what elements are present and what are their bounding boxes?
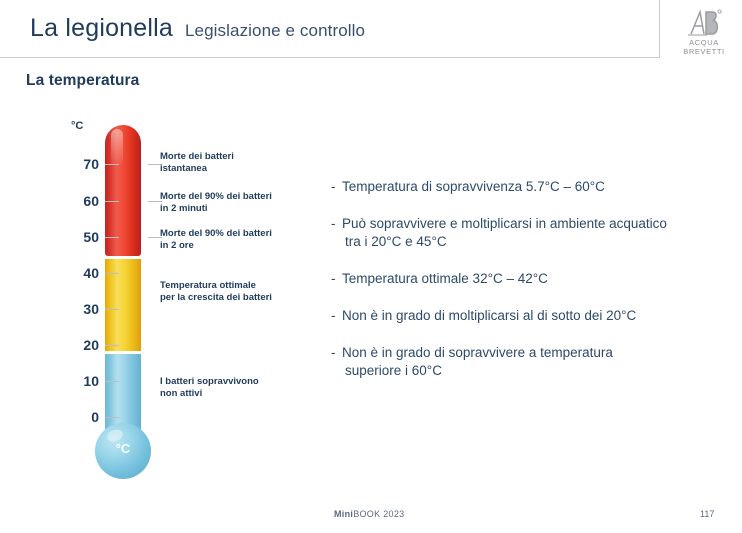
page-subtitle: Legislazione e controllo	[185, 21, 365, 41]
thermometer-annotation: Morte del 90% dei batteri in 2 ore	[160, 228, 310, 252]
page-title: La legionella	[30, 14, 173, 43]
thermometer-bulb: °C	[95, 423, 151, 479]
tick-mark-50	[105, 237, 119, 238]
annotation-line-1: I batteri sopravvivono	[160, 376, 310, 388]
list-item-line-2: tra i 20°C e 45°C	[342, 233, 731, 251]
annotation-line-1: Morte del 90% dei batteri	[160, 228, 310, 240]
bullet-marker: -	[331, 344, 336, 362]
thermometer-annotation: Morte del 90% dei batteri in 2 minuti	[160, 191, 310, 215]
page-header: La legionella Legislazione e controllo	[30, 14, 365, 43]
tick-mark-30	[105, 309, 119, 310]
bulb-unit-label: °C	[95, 441, 151, 456]
annotation-line-2: per la crescita dei batteri	[160, 292, 310, 304]
tick-label-40: 40	[65, 265, 99, 281]
bullet-marker: -	[331, 270, 336, 288]
footer-source: MiniBOOK 2023	[334, 509, 404, 519]
list-item-line-1: Temperatura ottimale 32°C – 42°C	[342, 271, 548, 286]
tick-label-50: 50	[65, 229, 99, 245]
list-item: - Non è in grado di sopravvivere a tempe…	[331, 344, 731, 380]
bullet-marker: -	[331, 307, 336, 325]
page-number: 117	[700, 509, 714, 519]
annotation-line-1: Morte dei batteri	[160, 151, 310, 163]
section-title: La temperatura	[26, 72, 139, 90]
facts-list: - Temperatura di sopravvivenza 5.7°C – 6…	[331, 178, 731, 399]
annotation-line-2: in 2 ore	[160, 240, 310, 252]
annotation-line-1: Morte del 90% dei batteri	[160, 191, 310, 203]
thermometer-tube	[105, 125, 141, 447]
tick-mark-0	[105, 417, 119, 418]
logo-text-brevetti: BREVETTI	[683, 47, 724, 56]
annotation-line-2: istantanea	[160, 163, 310, 175]
tick-label-10: 10	[65, 373, 99, 389]
footer-source-bold: Mini	[334, 509, 353, 519]
tick-label-30: 30	[65, 301, 99, 317]
list-item-line-1: Non è in grado di moltiplicarsi al di so…	[342, 308, 636, 323]
thermometer-annotation: Morte dei batteri istantanea	[160, 151, 310, 175]
tick-label-0: 0	[65, 409, 99, 425]
thermometer-annotation: Temperatura ottimale per la crescita dei…	[160, 280, 310, 304]
logo-text-acqua: ACQUA	[689, 38, 719, 47]
list-item-line-1: Temperatura di sopravvivenza 5.7°C – 60°…	[342, 179, 605, 194]
tick-label-70: 70	[65, 156, 99, 172]
axis-unit-label: °C	[71, 120, 83, 132]
list-item: - Temperatura ottimale 32°C – 42°C	[331, 270, 731, 288]
tick-mark-60	[105, 201, 119, 202]
list-item: - Temperatura di sopravvivenza 5.7°C – 6…	[331, 178, 731, 196]
tick-mark-20	[105, 345, 119, 346]
annotation-line-1: Temperatura ottimale	[160, 280, 310, 292]
tick-mark-40	[105, 273, 119, 274]
annotation-line-2: non attivi	[160, 388, 310, 400]
gloss-highlight	[111, 129, 123, 167]
acqua-brevetti-logo: ACQUA BREVETTI	[676, 8, 732, 60]
thermometer-chart: °C °C 70 60 50 40 30 20 10 0 Morte dei b…	[60, 118, 320, 478]
tick-mark-70	[105, 164, 119, 165]
tick-label-20: 20	[65, 337, 99, 353]
list-item-line-1: Può sopravvivere e moltiplicarsi in ambi…	[342, 216, 667, 231]
ab-monogram-icon	[685, 8, 723, 38]
list-item: - Può sopravvivere e moltiplicarsi in am…	[331, 215, 731, 251]
bullet-marker: -	[331, 215, 336, 233]
registered-mark-icon	[718, 10, 721, 13]
list-item: - Non è in grado di moltiplicarsi al di …	[331, 307, 731, 325]
bullet-marker: -	[331, 178, 336, 196]
thermometer-annotation: I batteri sopravvivono non attivi	[160, 376, 310, 400]
annotation-line-2: in 2 minuti	[160, 203, 310, 215]
tick-label-60: 60	[65, 193, 99, 209]
footer-source-rest: BOOK 2023	[353, 509, 404, 519]
tick-mark-10	[105, 381, 119, 382]
list-item-line-1: Non è in grado di sopravvivere a tempera…	[342, 345, 613, 360]
list-item-line-2: superiore i 60°C	[342, 362, 731, 380]
